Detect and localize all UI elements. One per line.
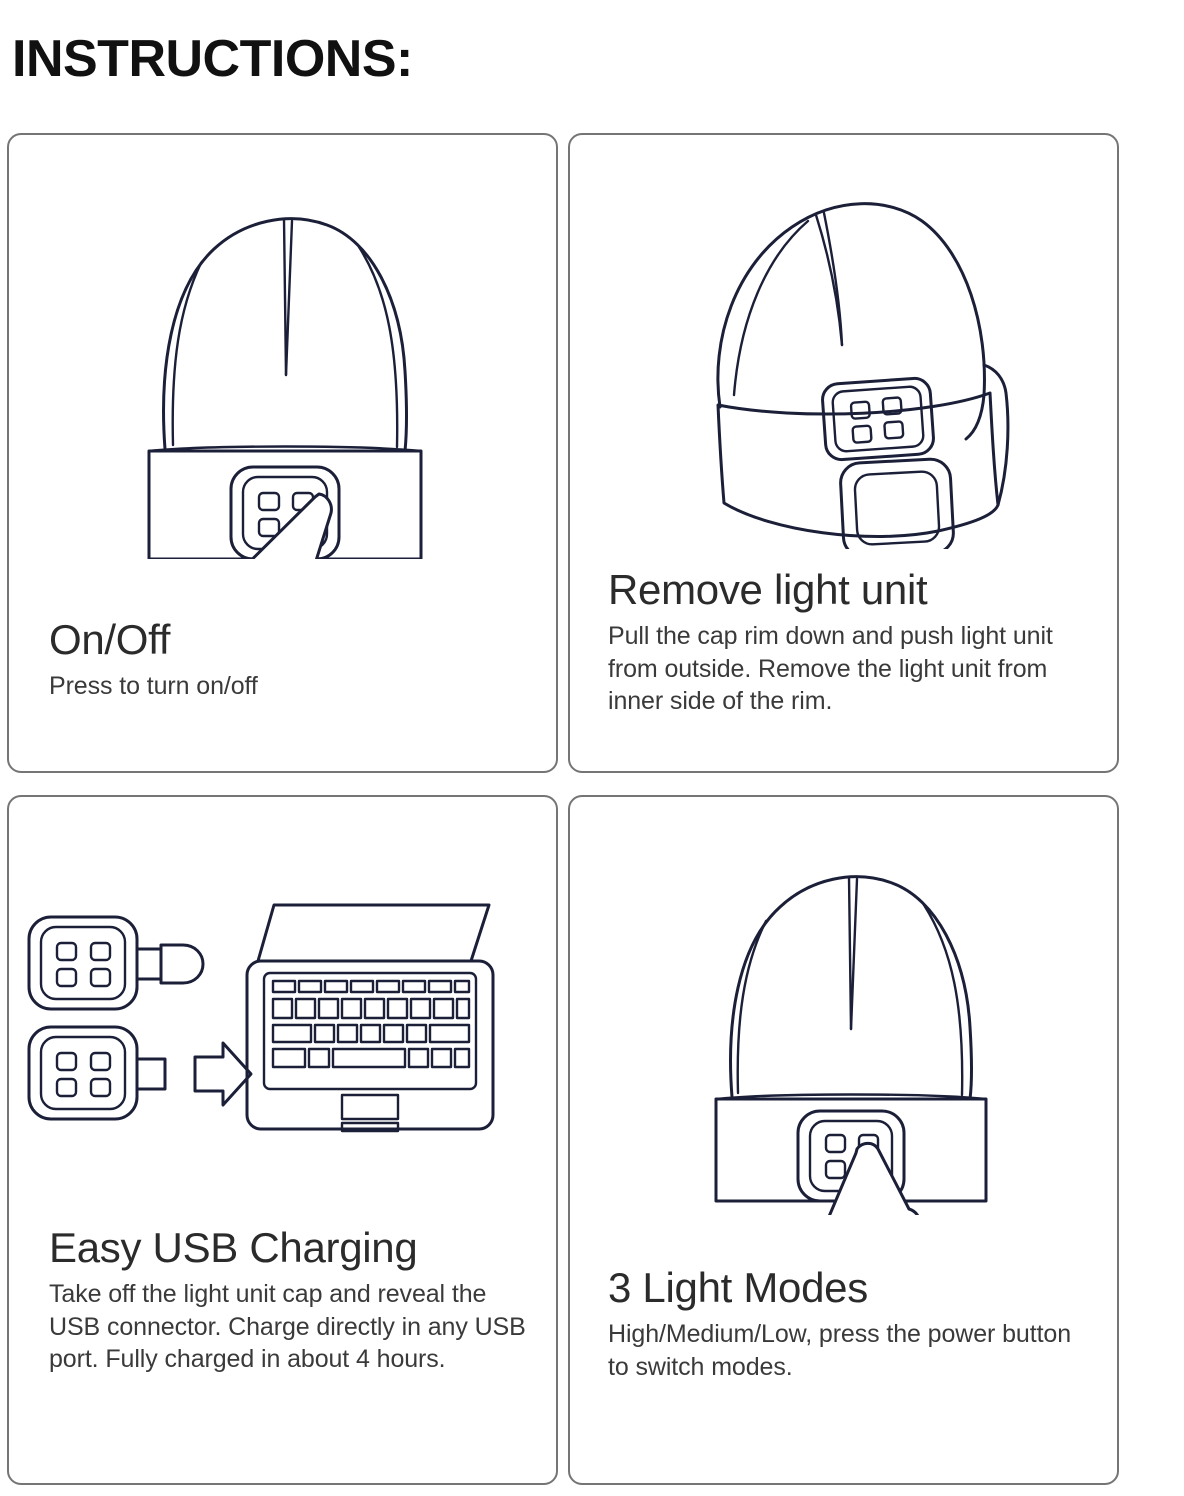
panel-three-light-modes-text: 3 Light Modes High/Medium/Low, press the… <box>608 1265 1093 1383</box>
beanie-front-press-illustration <box>9 159 556 559</box>
page-title: INSTRUCTIONS: <box>12 29 413 89</box>
panel-easy-usb-charging-heading: Easy USB Charging <box>49 1225 532 1270</box>
beanie-angled-remove-illustration <box>570 149 1117 549</box>
panel-easy-usb-charging-body: Take off the light unit cap and reveal t… <box>49 1278 532 1376</box>
laptop <box>247 905 493 1131</box>
panel-on-off-text: On/Off Press to turn on/off <box>49 617 532 703</box>
instruction-panel-grid: On/Off Press to turn on/off <box>7 133 1119 1485</box>
panel-remove-light-unit: Remove light unit Pull the cap rim down … <box>568 133 1119 773</box>
light-unit-with-cap <box>29 917 203 1009</box>
beanie-front-mode-switch-illustration <box>570 815 1117 1215</box>
panel-remove-light-unit-text: Remove light unit Pull the cap rim down … <box>608 567 1093 718</box>
panel-three-light-modes-heading: 3 Light Modes <box>608 1265 1093 1310</box>
panel-easy-usb-charging-text: Easy USB Charging Take off the light uni… <box>49 1225 532 1376</box>
panel-three-light-modes: 3 Light Modes High/Medium/Low, press the… <box>568 795 1119 1485</box>
light-unit-usb-exposed <box>29 1027 165 1119</box>
panel-three-light-modes-body: High/Medium/Low, press the power button … <box>608 1318 1093 1383</box>
panel-easy-usb-charging: Easy USB Charging Take off the light uni… <box>7 795 558 1485</box>
panel-on-off-heading: On/Off <box>49 617 532 662</box>
panel-remove-light-unit-heading: Remove light unit <box>608 567 1093 612</box>
arrow-right-icon <box>195 1043 251 1105</box>
usb-charging-illustration <box>9 897 556 1147</box>
panel-remove-light-unit-body: Pull the cap rim down and push light uni… <box>608 620 1093 718</box>
panel-on-off: On/Off Press to turn on/off <box>7 133 558 773</box>
instructions-page: INSTRUCTIONS: <box>0 0 1184 1496</box>
panel-on-off-body: Press to turn on/off <box>49 670 532 703</box>
